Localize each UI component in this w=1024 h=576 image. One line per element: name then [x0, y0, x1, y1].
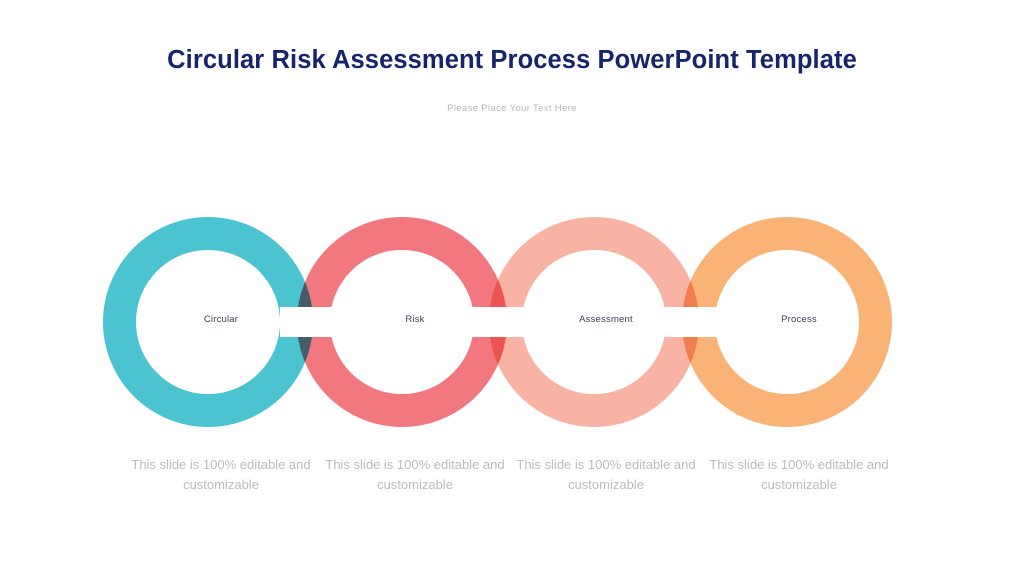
ring-label-risk: Risk: [315, 314, 515, 325]
ring-label-assessment: Assessment: [506, 314, 706, 325]
page-title: Circular Risk Assessment Process PowerPo…: [0, 46, 1024, 75]
caption-circular: This slide is 100% editable and customiz…: [121, 455, 321, 495]
caption-assessment: This slide is 100% editable and customiz…: [506, 455, 706, 495]
ring-label-process: Process: [699, 314, 899, 325]
caption-process: This slide is 100% editable and customiz…: [699, 455, 899, 495]
slide-canvas: Circular Risk Assessment Process PowerPo…: [0, 0, 1024, 576]
caption-risk: This slide is 100% editable and customiz…: [315, 455, 515, 495]
ring-label-circular: Circular: [121, 314, 321, 325]
page-subtitle: Please Place Your Text Here: [0, 103, 1024, 114]
